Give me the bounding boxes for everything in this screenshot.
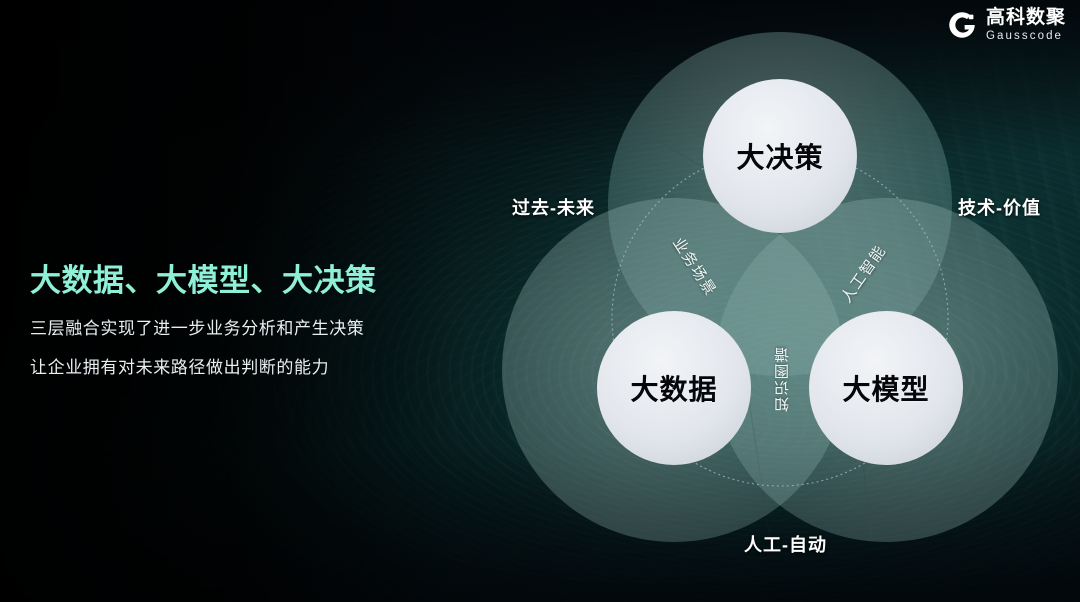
axis-label-bottom: 人工-自动 xyxy=(744,531,827,557)
venn-node-label-decision: 大决策 xyxy=(736,136,823,176)
venn-node-label-bigdata: 大数据 xyxy=(630,368,717,408)
subtitle-line-1: 三层融合实现了进一步业务分析和产生决策 xyxy=(30,314,460,339)
venn-diagram-svg xyxy=(500,18,1060,578)
axis-label-left: 过去-未来 xyxy=(512,194,595,220)
venn-node-label-bigmodel: 大模型 xyxy=(842,368,929,408)
axis-label-right: 技术-价值 xyxy=(958,194,1041,220)
venn-overlap-label-knowledge-graph: 知识图谱 xyxy=(772,346,793,412)
page-title: 大数据、大模型、大决策 xyxy=(30,255,460,300)
slide-root: 高科数聚 Gausscode 大数据、大模型、大决策 三层融合实现了进一步业务分… xyxy=(0,0,1080,602)
subtitle-line-2: 让企业拥有对未来路径做出判断的能力 xyxy=(30,353,460,378)
left-text-block: 大数据、大模型、大决策 三层融合实现了进一步业务分析和产生决策 让企业拥有对未来… xyxy=(30,255,460,392)
venn-diagram: 大决策 大数据 大模型 业务场景 人工智能 知识图谱 xyxy=(500,18,1060,578)
